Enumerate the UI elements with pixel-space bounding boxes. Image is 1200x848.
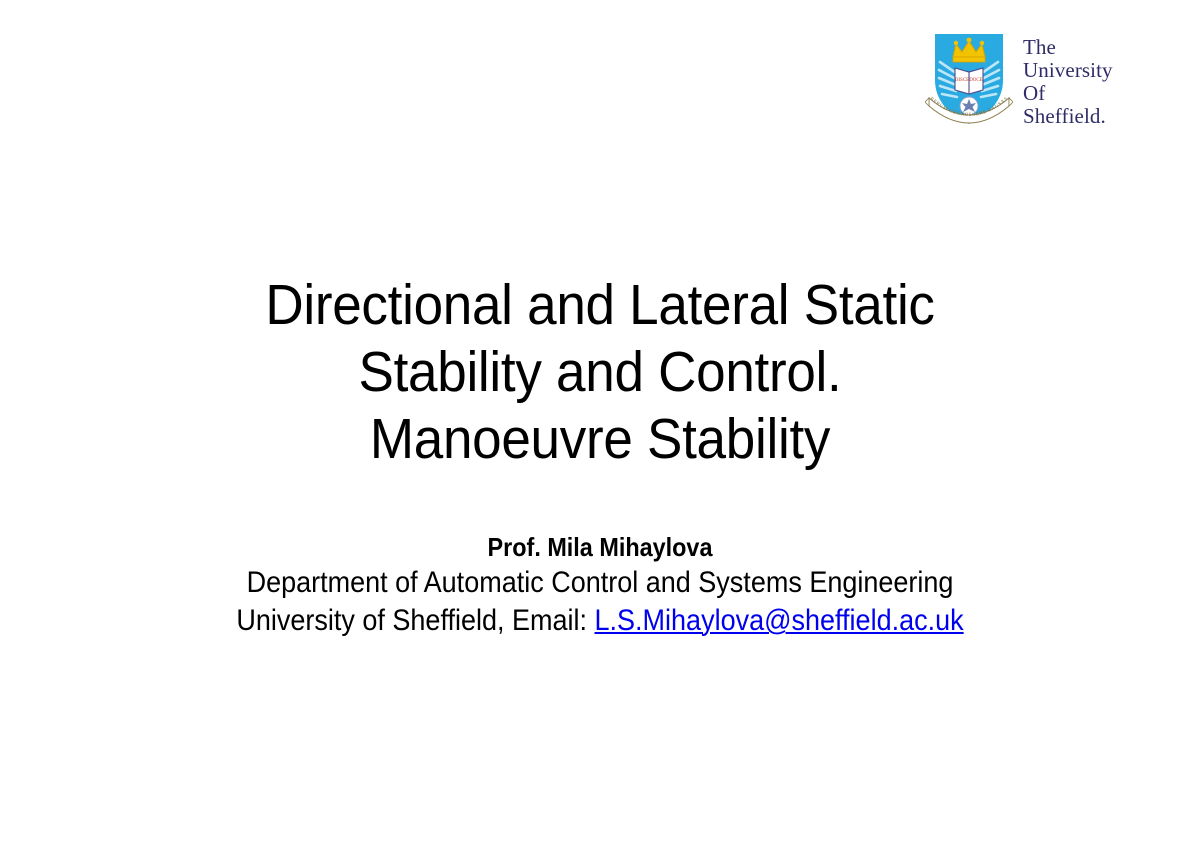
affiliation-prefix: University of Sheffield, Email:: [236, 604, 594, 637]
author-name: Prof. Mila Mihaylova: [60, 531, 1140, 564]
open-book-icon: DISCE DOCE: [955, 68, 983, 94]
author-affiliation-block: Prof. Mila Mihaylova Department of Autom…: [0, 531, 1200, 640]
svg-text:DOCE: DOCE: [969, 78, 983, 83]
university-of-sheffield-crest-icon: DISCE DOCE RERUM COGNOSCERE CAUSAS: [925, 28, 1013, 132]
title-line-1: Directional and Lateral Static: [42, 272, 1158, 339]
title-line-3: Manoeuvre Stability: [42, 406, 1158, 473]
title-line-2: Stability and Control.: [42, 339, 1158, 406]
wordmark-line-university: University: [1023, 59, 1113, 82]
email-link[interactable]: L.S.Mihaylova@sheffield.ac.uk: [595, 604, 964, 637]
slide-title: Directional and Lateral Static Stability…: [0, 272, 1200, 473]
svg-text:DISCE: DISCE: [955, 78, 969, 83]
presentation-title-slide: DISCE DOCE RERUM COGNOSCERE CAUSAS The: [0, 0, 1200, 848]
wordmark-line-sheffield: Sheffield.: [1023, 105, 1113, 128]
wordmark-line-of: Of: [1023, 82, 1113, 105]
wordmark-line-the: The: [1023, 36, 1113, 59]
university-wordmark: The University Of Sheffield.: [1023, 36, 1113, 128]
author-affiliation-email-line: University of Sheffield, Email: L.S.Miha…: [60, 602, 1140, 640]
author-department: Department of Automatic Control and Syst…: [60, 564, 1140, 602]
white-rose-icon: [960, 97, 978, 115]
university-logo: DISCE DOCE RERUM COGNOSCERE CAUSAS The: [925, 28, 1113, 132]
